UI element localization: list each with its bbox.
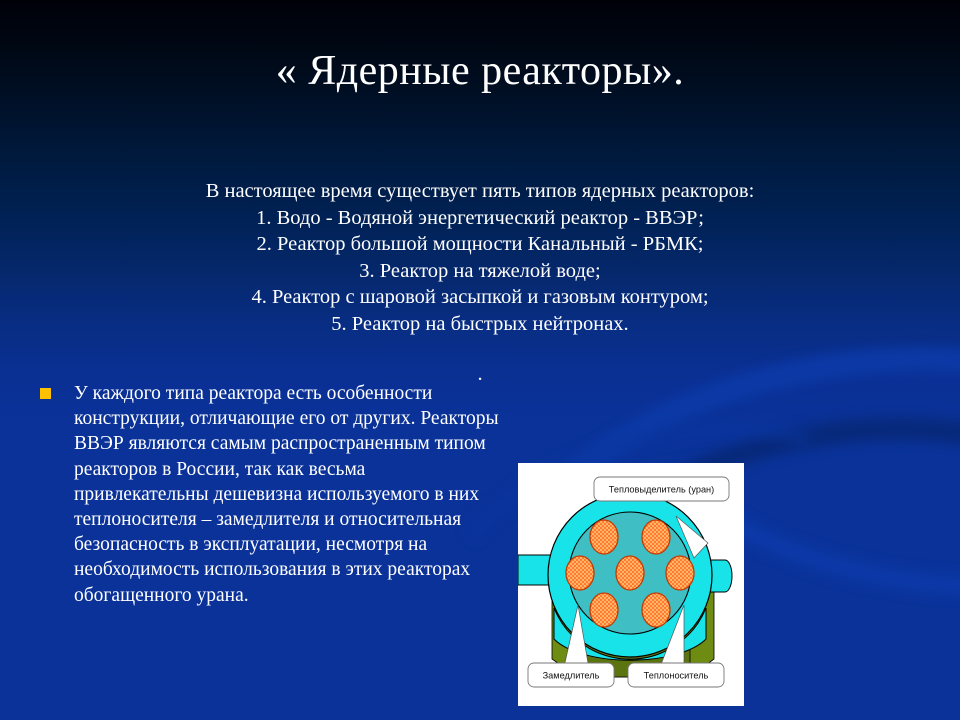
square-bullet-icon (40, 388, 51, 399)
reactor-type-item: 3. Реактор на тяжелой воде; (80, 258, 880, 285)
moderator-label-text: Замедлитель (543, 671, 600, 681)
reactor-type-item: 1. Водо - Водяной энергетический реактор… (80, 205, 880, 232)
fuel-rod (642, 593, 670, 627)
fuel-rod (590, 520, 618, 554)
intro-block: В настоящее время существует пять типов … (80, 178, 880, 337)
fuel-rod (566, 556, 594, 590)
reactor-type-item: 5. Реактор на быстрых нейтронах. (80, 311, 880, 338)
reactor-type-item: 4. Реактор с шаровой засыпкой и газовым … (80, 284, 880, 311)
slide-canvas: « Ядерные реакторы». В настоящее время с… (0, 0, 960, 720)
fuel-rod (616, 556, 644, 590)
slide-title: « Ядерные реакторы». (0, 48, 960, 94)
reactor-type-item: 2. Реактор большой мощности Канальный - … (80, 231, 880, 258)
fuel-rod (666, 556, 694, 590)
bullet-paragraph-text: У каждого типа реактора есть особенности… (74, 381, 500, 608)
intro-lead: В настоящее время существует пять типов … (80, 178, 880, 205)
coolant-label-text: Теплоноситель (644, 671, 709, 681)
reactor-diagram-image: Тепловыделитель (уран) Замедлитель Тепло… (518, 463, 744, 706)
fuel-rod (590, 593, 618, 627)
fuel-label-text: Тепловыделитель (уран) (609, 485, 714, 495)
bullet-list-item: У каждого типа реактора есть особенности… (40, 381, 500, 608)
reactor-cross-section-svg: Тепловыделитель (уран) Замедлитель Тепло… (518, 463, 744, 706)
fuel-rod (642, 520, 670, 554)
